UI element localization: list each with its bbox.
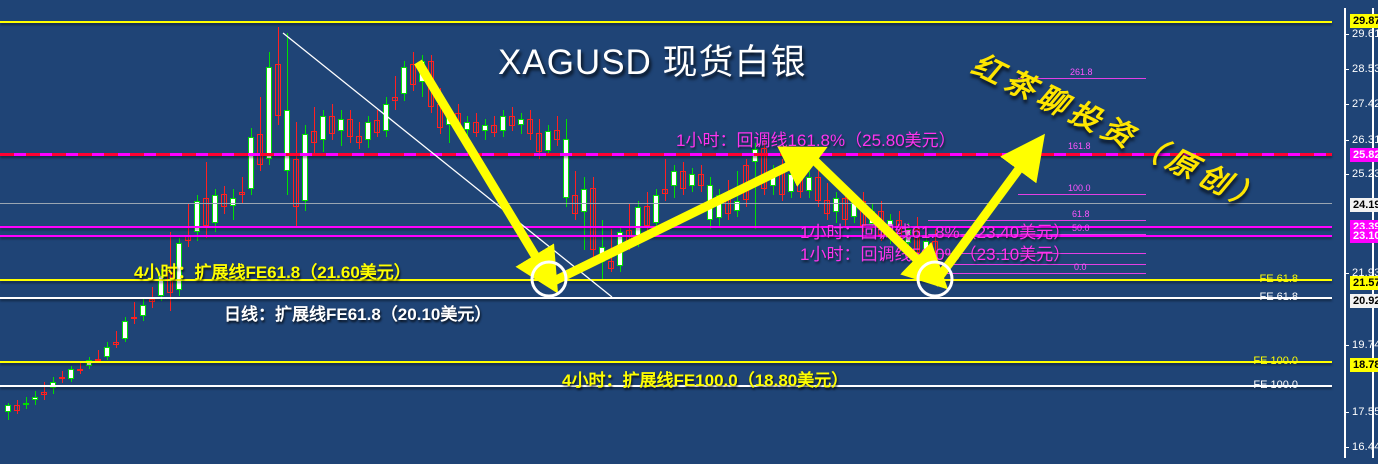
candle-body: [122, 321, 128, 339]
candle-wick: [242, 177, 243, 205]
candlestick: [374, 110, 380, 138]
candlestick: [248, 128, 254, 195]
candlestick: [59, 371, 65, 383]
candlestick: [788, 168, 794, 199]
price-label-25827: 25.827: [1350, 148, 1378, 162]
candle-body: [644, 206, 650, 226]
candlestick: [617, 226, 623, 272]
candlestick: [302, 125, 308, 211]
candlestick: [581, 177, 587, 250]
price-tick-label: 27.420: [1352, 98, 1378, 110]
candlestick: [266, 52, 272, 165]
candlestick: [275, 27, 281, 125]
candlestick: [734, 171, 740, 217]
candlestick: [104, 342, 110, 360]
candlestick: [572, 171, 578, 220]
candle-body: [680, 171, 686, 189]
candle-body: [500, 116, 506, 131]
candle-wick: [134, 302, 135, 323]
candle-body: [302, 134, 308, 201]
candle-body: [410, 64, 416, 85]
candle-wick: [665, 159, 666, 202]
fib-subline-0-0: [928, 273, 1146, 274]
price-tick-label: 28.530: [1352, 63, 1378, 75]
price-tick-mark: [1344, 140, 1349, 141]
candlestick: [797, 165, 803, 199]
candle-body: [590, 188, 596, 251]
candlestick: [113, 331, 119, 348]
candlestick: [140, 299, 146, 320]
price-label-29871: 29.871: [1350, 14, 1378, 28]
candlestick: [815, 168, 821, 208]
candle-body: [32, 397, 38, 400]
candle-body: [221, 194, 227, 208]
level-line-100-gray: [0, 203, 1332, 204]
candle-body: [428, 61, 434, 107]
price-scale[interactable]: 29.61028.53027.42026.31025.23021.93019.7…: [1300, 0, 1378, 464]
candlestick: [527, 110, 533, 141]
candle-body: [14, 405, 20, 411]
price-tick-mark: [1344, 447, 1349, 448]
candlestick: [284, 33, 290, 195]
candlestick: [77, 362, 83, 374]
candlestick: [122, 317, 128, 341]
candlestick: [752, 143, 758, 229]
fe-tag-618-yellow: FE 61.8: [1259, 273, 1298, 285]
price-tick-mark: [1344, 69, 1349, 70]
candlestick: [32, 391, 38, 405]
candlestick: [509, 107, 515, 131]
candle-body: [365, 122, 371, 140]
candlestick: [401, 61, 407, 101]
candle-body: [671, 171, 677, 186]
candle-body: [266, 67, 272, 159]
level-line-top-yellow: [0, 21, 1332, 23]
candlestick: [392, 76, 398, 110]
level-line-61-8-magenta: [0, 226, 1332, 228]
price-label-24193: 24.193: [1350, 198, 1378, 212]
candle-wick: [395, 76, 396, 110]
candlestick: [635, 201, 641, 247]
fib-50-label: 1小时：回调线50.0%（23.10美元）: [800, 240, 1070, 265]
candlestick: [716, 189, 722, 226]
candle-body: [653, 195, 659, 223]
candle-wick: [80, 362, 81, 374]
candlestick: [383, 97, 389, 137]
candlestick: [500, 110, 506, 138]
candle-body: [320, 116, 326, 140]
candle-body: [518, 119, 524, 125]
fib-tag-2618: 261.8: [1070, 67, 1093, 77]
candle-body: [212, 195, 218, 223]
candle-body: [770, 171, 776, 186]
fib-tag-00: 0.0: [1074, 262, 1087, 272]
candle-body: [572, 195, 578, 213]
price-label-20925: 20.925: [1350, 294, 1378, 308]
candle-body: [284, 110, 290, 171]
candlestick: [824, 183, 830, 220]
candlestick: [464, 116, 470, 140]
fe-tag-1000-white: FE 100.0: [1253, 379, 1298, 391]
price-tick-mark: [1344, 34, 1349, 35]
candle-body: [788, 174, 794, 192]
candlestick: [347, 110, 353, 144]
page-title: XAGUSD 现货白银: [498, 34, 807, 85]
candle-body: [599, 247, 605, 262]
candle-body: [545, 131, 551, 151]
price-tick-mark: [1344, 174, 1349, 175]
price-label-18784: 18.784: [1350, 358, 1378, 372]
candle-body: [554, 130, 560, 141]
candle-body: [5, 405, 11, 413]
candle-body: [248, 137, 254, 189]
candle-body: [356, 136, 362, 144]
candlestick: [437, 88, 443, 134]
candlestick: [779, 159, 785, 202]
candle-body: [392, 97, 398, 100]
candlestick: [428, 55, 434, 113]
candle-body: [689, 174, 695, 186]
fib-tag-500: 50.0: [1072, 223, 1090, 233]
candle-body: [833, 198, 839, 212]
candle-body: [239, 192, 245, 195]
candle-body: [401, 67, 407, 95]
price-tick-mark: [1344, 273, 1349, 274]
candlestick: [410, 52, 416, 92]
candle-body: [338, 119, 344, 131]
candlestick: [455, 104, 461, 138]
candlestick: [320, 110, 326, 153]
candle-body: [275, 64, 281, 116]
candlestick: [554, 116, 560, 147]
price-tick-label: 16.440: [1352, 441, 1378, 453]
candle-body: [815, 177, 821, 201]
candle-body: [743, 165, 749, 200]
candle-body: [509, 116, 515, 127]
candle-body: [23, 403, 29, 405]
candlestick: [311, 107, 317, 156]
candlestick: [131, 302, 137, 323]
candle-body: [482, 125, 488, 131]
candlestick: [230, 189, 236, 220]
candlestick: [590, 177, 596, 260]
candlestick: [482, 119, 488, 140]
candlestick: [698, 165, 704, 193]
price-tick-label: 26.310: [1352, 134, 1378, 146]
candlestick: [221, 186, 227, 214]
fib-tag-1000: 100.0: [1068, 183, 1091, 193]
fib-161-label: 1小时：回调线161.8%（25.80美元）: [676, 126, 956, 151]
candle-body: [293, 159, 299, 208]
fe-tag-618-white: FE 61.8: [1259, 291, 1298, 303]
price-tick-mark: [1344, 412, 1349, 413]
trading-chart: 261.8161.8100.061.850.00.0 XAGUSD 现货白银 红…: [0, 0, 1378, 464]
candle-body: [842, 198, 848, 219]
price-tick-mark: [1344, 104, 1349, 105]
candlestick: [662, 159, 668, 202]
candle-body: [662, 189, 668, 194]
candle-body: [149, 299, 155, 302]
candle-body: [347, 119, 353, 137]
candle-body: [41, 392, 47, 395]
price-tick-mark: [1344, 345, 1349, 346]
price-label-21575: 21.575: [1350, 276, 1378, 290]
candlestick: [770, 165, 776, 196]
candle-body: [77, 369, 83, 371]
candle-body: [536, 133, 542, 153]
candle-body: [455, 113, 461, 131]
candlestick: [5, 403, 11, 420]
candle-body: [698, 174, 704, 186]
fib-tag-618: 61.8: [1072, 209, 1090, 219]
candle-body: [716, 195, 722, 218]
candle-body: [68, 369, 74, 378]
candlestick: [563, 119, 569, 208]
candlestick: [725, 180, 731, 220]
candle-body: [419, 61, 425, 82]
candle-body: [113, 342, 119, 345]
candle-body: [806, 177, 812, 191]
price-tick-label: 17.550: [1352, 406, 1378, 418]
candle-body: [527, 119, 533, 134]
fe100-4h-label: 4小时：扩展线FE100.0（18.80美元）: [562, 366, 848, 391]
candlestick: [680, 162, 686, 196]
level-line-fe61-8-daily: [0, 297, 1332, 299]
candle-body: [329, 116, 335, 134]
candle-body: [257, 134, 263, 165]
candlestick: [671, 165, 677, 199]
candlestick: [653, 189, 659, 229]
candlestick: [239, 177, 245, 205]
candle-body: [581, 189, 587, 212]
candle-body: [464, 122, 470, 130]
candle-body: [797, 174, 803, 192]
candlestick: [338, 110, 344, 147]
level-line-50-magenta: [0, 235, 1332, 237]
fe618-daily-label: 日线：扩展线FE61.8（20.10美元）: [224, 300, 491, 325]
candle-body: [374, 120, 380, 132]
candle-body: [473, 122, 479, 133]
candlestick: [473, 113, 479, 137]
candle-body: [608, 261, 614, 269]
candlestick: [689, 168, 695, 192]
candlestick: [86, 357, 92, 369]
candlestick: [365, 116, 371, 148]
candle-wick: [116, 331, 117, 348]
candlestick: [14, 400, 20, 414]
price-label-23103: 23.103: [1350, 229, 1378, 243]
candlestick: [68, 366, 74, 381]
candle-body: [446, 113, 452, 125]
candle-body: [59, 377, 65, 379]
fe618-4h-label: 4小时：扩展线FE61.8（21.60美元）: [134, 258, 411, 283]
fib-tag-1618: 161.8: [1068, 141, 1091, 151]
fib-subline-100-0: [1018, 194, 1146, 195]
candle-body: [626, 230, 632, 244]
candlestick: [545, 125, 551, 156]
candlestick: [491, 116, 497, 137]
candlestick: [23, 397, 29, 409]
price-axis-line: [1344, 8, 1346, 458]
level-line-fe100-4h: [0, 361, 1332, 363]
price-tick-label: 19.740: [1352, 339, 1378, 351]
candlestick: [806, 171, 812, 199]
candlestick: [446, 107, 452, 144]
candlestick: [356, 122, 362, 150]
candlestick: [419, 55, 425, 98]
candlestick: [257, 97, 263, 170]
candlestick: [329, 104, 335, 141]
candlestick: [293, 122, 299, 226]
candle-body: [104, 347, 110, 358]
candlestick: [518, 113, 524, 134]
candle-body: [311, 131, 317, 143]
candle-body: [131, 317, 137, 319]
candlestick: [743, 159, 749, 208]
price-tick-label: 29.610: [1352, 28, 1378, 40]
candlestick: [599, 220, 605, 281]
candle-body: [563, 139, 569, 199]
fe-tag-1000-yellow: FE 100.0: [1253, 355, 1298, 367]
candle-body: [824, 200, 830, 214]
candle-body: [140, 305, 146, 316]
candle-body: [383, 104, 389, 132]
price-tick-label: 25.230: [1352, 168, 1378, 180]
candle-body: [437, 104, 443, 128]
candle-body: [779, 169, 785, 195]
candle-body: [491, 125, 497, 133]
candle-wick: [584, 177, 585, 250]
